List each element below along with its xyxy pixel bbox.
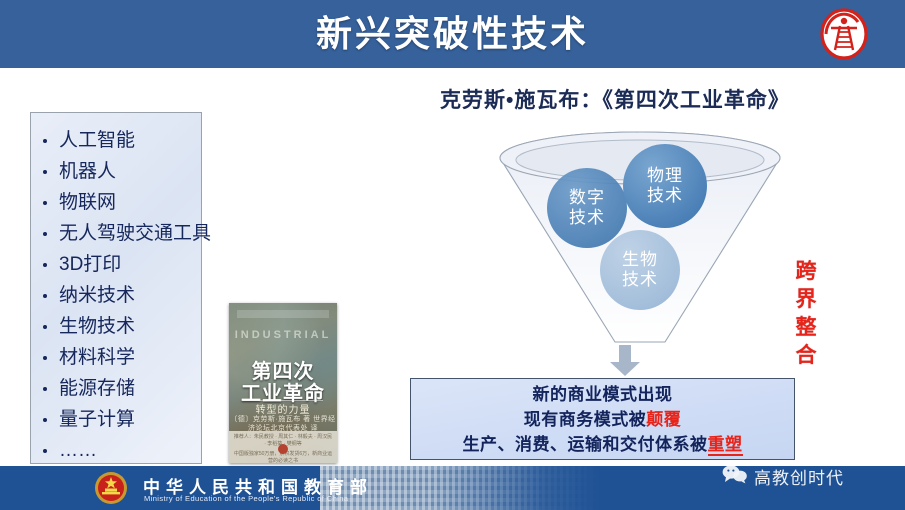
circle-physical-technology: 物理 技术 <box>623 144 707 228</box>
slide-header-bar: 新兴突破性技术 <box>0 0 905 68</box>
outcome-line-1: 新的商业模式出现 <box>533 382 673 407</box>
circle-bio-line2: 技术 <box>622 270 658 290</box>
vertical-label-cross-border-integration: 跨 界 整 合 <box>793 258 819 370</box>
watermark-text: 高教创时代 <box>754 464 844 489</box>
book-cover-image: INDUSTRIAL 第四次 工业革命 转型的力量 〔德〕克劳斯·施瓦布 著 世… <box>229 303 337 463</box>
slide: 新兴突破性技术 人工智能 机器人 物联网 无人驾驶交通工具 3D打印 纳米技术 … <box>0 0 905 510</box>
circle-digital-line2: 技术 <box>569 208 605 228</box>
circle-biological-technology: 生物 技术 <box>600 230 680 310</box>
list-item: 生物技术 <box>39 311 195 342</box>
vertical-label-char: 整 <box>793 314 819 342</box>
funnel-diagram: 数字 技术 物理 技术 生物 技术 <box>495 130 785 355</box>
list-item: 纳米技术 <box>39 280 195 311</box>
technology-list-panel: 人工智能 机器人 物联网 无人驾驶交通工具 3D打印 纳米技术 生物技术 材料科… <box>30 112 202 464</box>
down-arrow-icon <box>608 345 642 377</box>
outcome-line-3: 生产、消费、运输和交付体系被重塑 <box>463 432 743 457</box>
list-item: 材料科学 <box>39 342 195 373</box>
vertical-label-char: 界 <box>793 286 819 314</box>
outcome-line-3-text: 生产、消费、运输和交付体系被 <box>463 435 708 454</box>
wechat-icon <box>722 464 748 489</box>
circle-bio-line1: 生物 <box>622 250 658 270</box>
list-item: 物联网 <box>39 187 195 218</box>
outcome-line-2-highlight: 颠覆 <box>646 410 681 429</box>
list-item: 无人驾驶交通工具 <box>39 218 195 249</box>
outcome-line-2: 现有商务模式被颠覆 <box>524 407 682 432</box>
outcome-box: 新的商业模式出现 现有商务模式被颠覆 生产、消费、运输和交付体系被重塑 <box>410 378 795 460</box>
book-bottom-band: 推荐人：朱民教授 · 周其仁 · 林毅夫 · 周汉民 · 李稻葵 · 樊纲等 中… <box>229 431 337 463</box>
technology-list: 人工智能 机器人 物联网 无人驾驶交通工具 3D打印 纳米技术 生物技术 材料科… <box>39 125 195 466</box>
book-publisher-dot-icon <box>278 444 288 454</box>
book-top-band <box>237 310 329 318</box>
page-title: 新兴突破性技术 <box>0 8 905 60</box>
list-item: 量子计算 <box>39 404 195 435</box>
book-reference-heading: 克劳斯•施瓦布：《第四次工业革命》 <box>440 84 860 114</box>
book-subtitle: 转型的力量 <box>229 401 337 416</box>
list-item: 机器人 <box>39 156 195 187</box>
vertical-label-char: 跨 <box>793 258 819 286</box>
list-item: 能源存储 <box>39 373 195 404</box>
circle-digital-technology: 数字 技术 <box>547 168 627 248</box>
book-english-title: INDUSTRIAL <box>229 329 337 341</box>
vertical-label-char: 合 <box>793 342 819 370</box>
list-item: 人工智能 <box>39 125 195 156</box>
list-item: 3D打印 <box>39 249 195 280</box>
watermark: 高教创时代 <box>722 464 844 488</box>
china-national-emblem-icon <box>93 470 129 506</box>
red-tower-circle-logo-icon <box>818 8 870 60</box>
outcome-line-2-text: 现有商务模式被 <box>524 410 647 429</box>
circle-physical-line2: 技术 <box>647 186 683 206</box>
circle-digital-line1: 数字 <box>569 188 605 208</box>
ministry-name-en: Ministry of Education of the People's Re… <box>144 494 348 503</box>
outcome-line-3-highlight: 重塑 <box>708 435 743 456</box>
circle-physical-line1: 物理 <box>647 166 683 186</box>
list-item: …… <box>39 435 195 466</box>
